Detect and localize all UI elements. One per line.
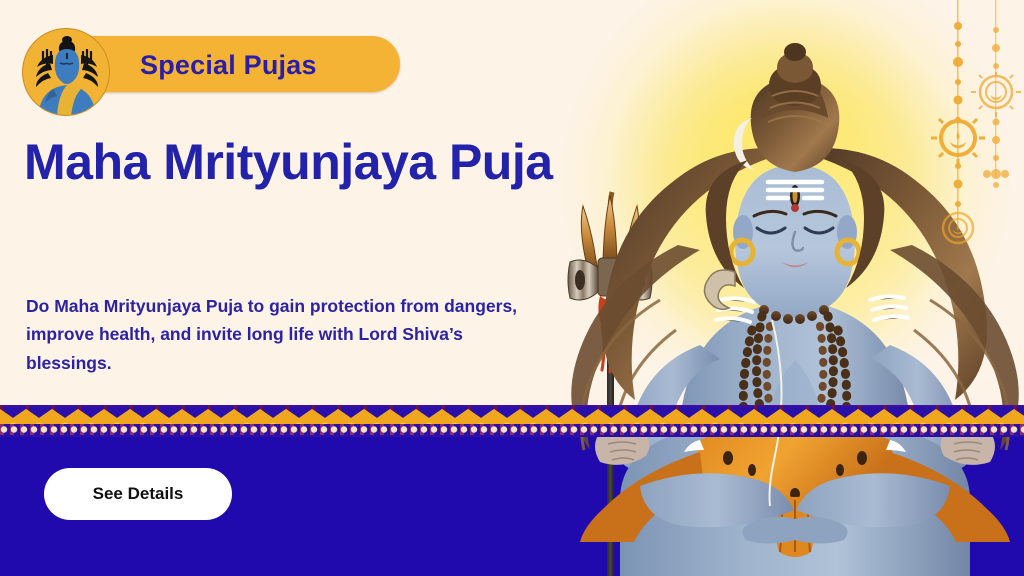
page-title: Maha Mrityunjaya Puja (24, 133, 564, 192)
see-details-button[interactable]: See Details (44, 468, 232, 520)
description-text: Do Maha Mrityunjaya Puja to gain protect… (26, 292, 526, 377)
shiva-avatar-icon (22, 28, 110, 116)
special-pujas-badge-label: Special Pujas (140, 44, 400, 86)
decorative-border-strip (0, 405, 1024, 437)
promo-banner: Special Pujas Maha Mrit (0, 0, 1024, 576)
dot-pattern-row (0, 424, 1024, 435)
